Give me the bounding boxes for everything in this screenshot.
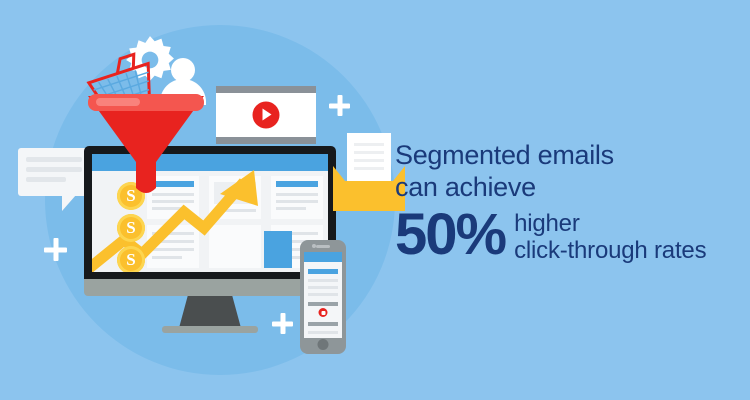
dollar-coin-icon: S (117, 214, 145, 242)
stat-row: 50% higher click-through rates (395, 209, 745, 261)
phone-speaker (316, 245, 330, 248)
chat-bubble-line (26, 177, 66, 182)
stat-caption: higher click-through rates (514, 210, 706, 264)
infographic-canvas: S S S (0, 0, 750, 400)
video-player-card (216, 86, 316, 144)
coin-symbol: S (117, 246, 145, 272)
phone-headline-bar (308, 269, 338, 274)
phone-home-button (318, 339, 329, 350)
stat-value: 50% (395, 209, 505, 261)
video-top-bar (216, 86, 316, 93)
monitor-stand-base (162, 326, 258, 333)
chat-bubble-tail (62, 195, 76, 211)
stat-caption-line-1: higher (514, 210, 706, 237)
funnel-rim (88, 94, 204, 111)
plus-icon (329, 95, 350, 116)
letter-line (354, 151, 384, 154)
phone-text-line (308, 293, 338, 296)
monitor-foot (84, 279, 336, 296)
smartphone (300, 240, 346, 354)
phone-divider (308, 302, 338, 306)
phone-title-bar (304, 252, 342, 262)
dollar-coin-icon: S (117, 246, 145, 272)
plus-icon (272, 313, 293, 334)
play-icon (253, 102, 280, 129)
funnel-icon (86, 96, 206, 196)
chat-bubble-icon (18, 148, 90, 196)
phone-text-line (308, 331, 338, 334)
phone-divider (308, 322, 338, 326)
chat-bubble-line (26, 167, 82, 172)
plus-icon (44, 238, 67, 261)
video-bottom-bar (216, 137, 316, 144)
coin-symbol: S (117, 214, 145, 242)
funnel-group (86, 34, 206, 194)
monitor-stand-neck (179, 296, 241, 328)
stat-caption-line-2: click-through rates (514, 237, 706, 264)
headline-line-2: can achieve (395, 171, 745, 203)
letter-line (354, 159, 384, 162)
phone-text-line (308, 279, 338, 282)
headline-line-1: Segmented emails (395, 139, 745, 171)
record-dot-icon (319, 308, 328, 317)
headline-block: Segmented emails can achieve 50% higher … (395, 139, 745, 261)
phone-screen (304, 252, 342, 338)
letter-line (354, 143, 384, 146)
chat-bubble-line (26, 157, 82, 162)
phone-text-line (308, 286, 338, 289)
